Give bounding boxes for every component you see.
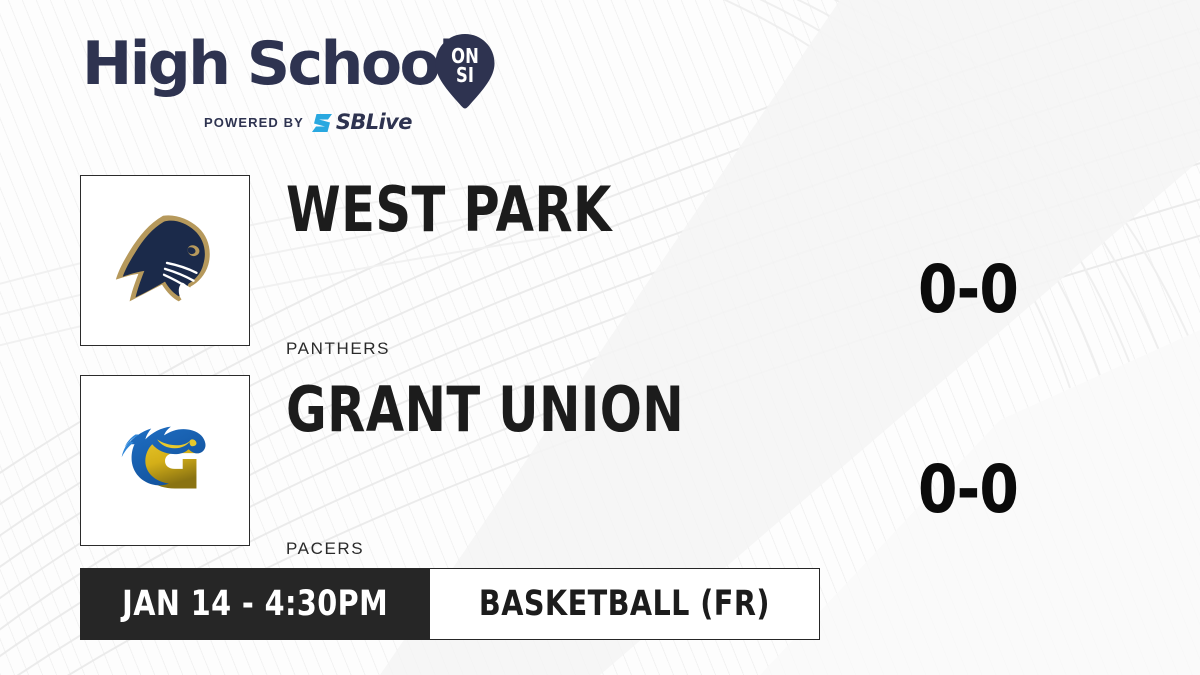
team-mascot-label: PACERS	[286, 539, 364, 559]
game-datetime-text: JAN 14 - 4:30PM	[122, 587, 388, 622]
game-sport-text: BASKETBALL (FR)	[479, 587, 770, 622]
sblive-logo: SBLive	[311, 112, 412, 133]
team-mascot-label: PANTHERS	[286, 339, 390, 359]
game-sport-block: BASKETBALL (FR)	[430, 568, 820, 640]
sblive-wordmark: SBLive	[336, 112, 412, 133]
on-si-pin-icon: ON SI	[434, 32, 496, 110]
team-logo-tile	[80, 375, 250, 546]
powered-by-label: POWERED BY	[204, 115, 304, 130]
panther-head-logo-icon	[106, 202, 224, 320]
team-name: GRANT UNION	[286, 379, 684, 441]
brand-lockup: High School ON SI POWERED BY SBLive	[82, 34, 512, 134]
high-school-wordmark: High School	[82, 34, 456, 94]
team-score: 0-0	[918, 457, 1018, 523]
badge-si-text: SI	[456, 65, 474, 88]
matchup-card: High School ON SI POWERED BY SBLive	[0, 0, 1200, 675]
game-datetime-block: JAN 14 - 4:30PM	[80, 568, 430, 640]
horse-head-g-logo-icon	[106, 402, 224, 520]
powered-by-row: POWERED BY SBLive	[204, 112, 412, 133]
sblive-bolt-icon	[311, 113, 333, 133]
team-score: 0-0	[918, 257, 1018, 323]
team-name: WEST PARK	[286, 179, 612, 241]
game-info-bar: JAN 14 - 4:30PM BASKETBALL (FR)	[80, 568, 820, 640]
team-logo-tile	[80, 175, 250, 346]
